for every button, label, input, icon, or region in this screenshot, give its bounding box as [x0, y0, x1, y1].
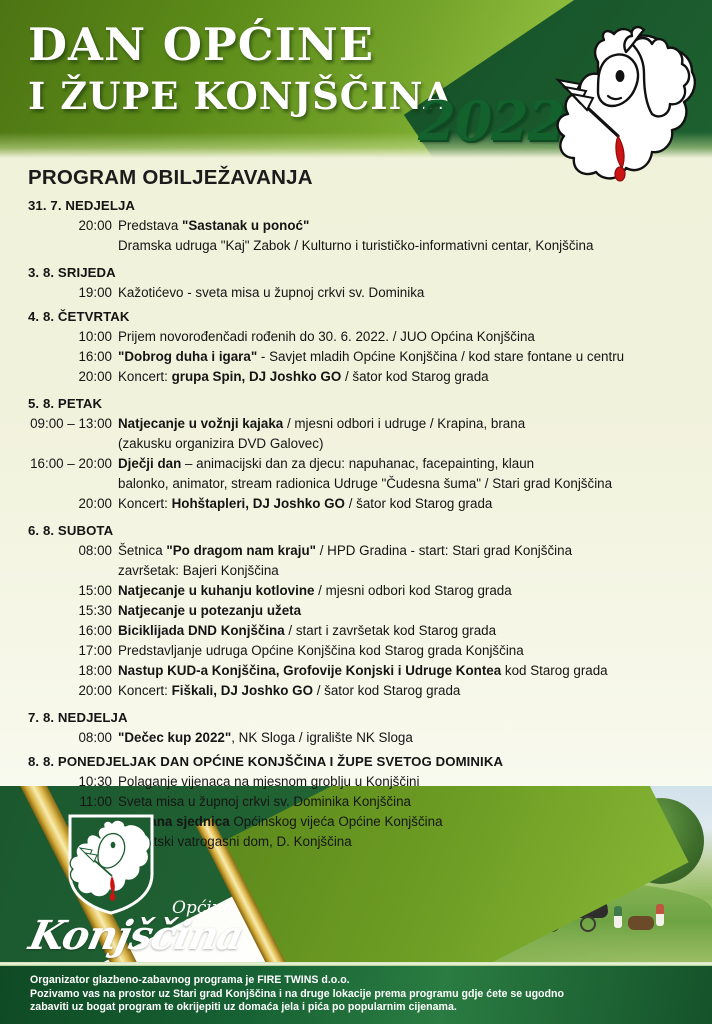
program-day-gap [0, 701, 712, 708]
program-entry-time: 20:00 [0, 681, 118, 701]
program-entry-text: Kažotićevo - sveta misa u župnoj crkvi s… [118, 283, 424, 303]
program-entry-time: 08:00 [0, 728, 118, 748]
footer-line-2: Pozivamo vas na prostor uz Stari grad Ko… [0, 988, 712, 1002]
program-entry: 16:00Biciklijada DND Konjščina / start i… [0, 621, 712, 641]
program-entry-text: Predstavljanje udruga Općine Konjščina k… [118, 641, 524, 661]
program-day-title: 7. 8. NEDJELJA [28, 708, 712, 728]
program-entry-continuation: Dramska udruga "Kaj" Zabok / Kulturno i … [0, 236, 712, 256]
program-entry: 15:00Natjecanje u kuhanju kotlovine / mj… [0, 581, 712, 601]
program-entry-text: Sveta misa u župnoj crkvi sv. Dominika K… [118, 792, 411, 812]
footer-line-3: zabaviti uz bogat program te okrijepiti … [0, 1001, 712, 1015]
program-continuation-text: balonko, animator, stream radionica Udru… [118, 474, 612, 494]
program-entry: 17:00Predstavljanje udruga Općine Konjšč… [0, 641, 712, 661]
program-entry-time: 15:00 [0, 581, 118, 601]
program-entry-time: 20:00 [0, 216, 118, 236]
program-entry-time: 20:00 [0, 494, 118, 514]
program-entry: 19:00Kažotićevo - sveta misa u župnoj cr… [0, 283, 712, 303]
poster: DAN OPĆINE I ŽUPE KONJŠČINA 2022 PROG [0, 0, 712, 1024]
program-day-title: 5. 8. PETAK [28, 394, 712, 414]
program-entry-text: Nastup KUD-a Konjščina, Grofovije Konjsk… [118, 661, 608, 681]
program-entry-continuation: (zakusku organizira DVD Galovec) [0, 434, 712, 454]
program-entry-time: 16:00 [0, 347, 118, 367]
program-entry: 15:30Natjecanje u potezanju užeta [0, 601, 712, 621]
footer-divider [0, 962, 712, 966]
program-entry-time: 16:00 – 20:00 [0, 454, 118, 474]
program-entry-time: 17:00 [0, 641, 118, 661]
program-day-title: 6. 8. SUBOTA [28, 521, 712, 541]
program-entry-text: Koncert: Hohštapleri, DJ Joshko GO / šat… [118, 494, 492, 514]
program-entry-time: 08:00 [0, 541, 118, 561]
program-entry-time: 15:30 [0, 601, 118, 621]
program-day: 5. 8. PETAK09:00 – 13:00Natjecanje u vož… [0, 394, 712, 514]
program-entry-time: 11:00 [0, 792, 118, 812]
program-entry: 20:00Koncert: grupa Spin, DJ Joshko GO /… [0, 367, 712, 387]
poster-title: DAN OPĆINE I ŽUPE KONJŠČINA [28, 22, 453, 115]
program-entry: 18:00Nastup KUD-a Konjščina, Grofovije K… [0, 661, 712, 681]
program-entry-text: Svečana sjednica Općinskog vijeća Općine… [118, 812, 443, 832]
footer-line-1: Organizator glazbeno-zabavnog programa j… [0, 966, 712, 988]
program-entry: 20:00Koncert: Fiškali, DJ Joshko GO / ša… [0, 681, 712, 701]
poster-footer: Organizator glazbeno-zabavnog programa j… [0, 966, 712, 1024]
program-day-title: 8. 8. PONEDJELJAK DAN OPĆINE KONJŠČINA I… [28, 752, 712, 772]
program-entry-text: Prijem novorođenčadi rođenih do 30. 6. 2… [118, 327, 535, 347]
program-day: 3. 8. SRIJEDA19:00Kažotićevo - sveta mis… [0, 263, 712, 303]
program-entry: 10:00Prijem novorođenčadi rođenih do 30.… [0, 327, 712, 347]
program-day-title: 4. 8. ČETVRTAK [28, 307, 712, 327]
program-day-gap [0, 387, 712, 394]
program-continuation-text: završetak: Bajeri Konjščina [118, 561, 279, 581]
program-continuation-text: Dramska udruga "Kaj" Zabok / Kulturno i … [118, 236, 593, 256]
program-entry: 20:00Predstava "Sastanak u ponoć" [0, 216, 712, 236]
program-day-title: 3. 8. SRIJEDA [28, 263, 712, 283]
title-line-2: I ŽUPE KONJŠČINA [28, 78, 453, 115]
program-entry-text: Natjecanje u vožnji kajaka / mjesni odbo… [118, 414, 525, 434]
program-day: 7. 8. NEDJELJA08:00"Dečec kup 2022", NK … [0, 708, 712, 748]
program-entry-text: Predstava "Sastanak u ponoć" [118, 216, 309, 236]
program-entry-text: Šetnica "Po dragom nam kraju" / HPD Grad… [118, 541, 572, 561]
program-entry-time: 09:00 – 13:00 [0, 414, 118, 434]
title-line-1: DAN OPĆINE [28, 22, 453, 67]
white-horse-heraldic-crest-icon [534, 18, 710, 208]
program-entry: 09:00 – 13:00Natjecanje u vožnji kajaka … [0, 414, 712, 434]
program-day-gap [0, 256, 712, 263]
program-entry: 16:00"Dobrog duha i igara" - Savjet mlad… [0, 347, 712, 367]
program-entry-continuation: balonko, animator, stream radionica Udru… [0, 474, 712, 494]
program-entry: 08:00Šetnica "Po dragom nam kraju" / HPD… [0, 541, 712, 561]
program-entry-text: "Dobrog duha i igara" - Savjet mladih Op… [118, 347, 624, 367]
konjscina-wordmark: Općina Konjščina [26, 898, 286, 956]
program-entry-text: Koncert: grupa Spin, DJ Joshko GO / šato… [118, 367, 489, 387]
program-entry-text: Koncert: Fiškali, DJ Joshko GO / šator k… [118, 681, 460, 701]
program-entry-time: 10:00 [0, 327, 118, 347]
program-entry-time: 16:00 [0, 621, 118, 641]
program-entry-time: 10:30 [0, 772, 118, 792]
program-entry: 10:30Polaganje vijenaca na mjesnom grobl… [0, 772, 712, 792]
program-continuation-text: (zakusku organizira DVD Galovec) [118, 434, 323, 454]
program-entry-time: 18:00 [0, 661, 118, 681]
program-entry-text: Polaganje vijenaca na mjesnom groblju u … [118, 772, 419, 792]
program-entry: 20:00Koncert: Hohštapleri, DJ Joshko GO … [0, 494, 712, 514]
wordmark-konjscina: Konjščina [25, 912, 247, 959]
program-entry-continuation: završetak: Bajeri Konjščina [0, 561, 712, 581]
program-entry-text: Biciklijada DND Konjščina / start i zavr… [118, 621, 496, 641]
program-heading: PROGRAM OBILJEŽAVANJA [28, 166, 313, 190]
program-list: 31. 7. NEDJELJA20:00Predstava "Sastanak … [0, 196, 712, 859]
program-entry-text: Natjecanje u kuhanju kotlovine / mjesni … [118, 581, 512, 601]
program-entry-text: Natjecanje u potezanju užeta [118, 601, 301, 621]
program-entry-time: 20:00 [0, 367, 118, 387]
program-day: 4. 8. ČETVRTAK10:00Prijem novorođenčadi … [0, 307, 712, 387]
program-day-gap [0, 514, 712, 521]
program-entry: 16:00 – 20:00Dječji dan – animacijski da… [0, 454, 712, 474]
program-entry-time: 19:00 [0, 283, 118, 303]
program-entry: 08:00"Dečec kup 2022", NK Sloga / igrali… [0, 728, 712, 748]
program-entry-text: "Dečec kup 2022", NK Sloga / igralište N… [118, 728, 413, 748]
program-entry-text: Dječji dan – animacijski dan za djecu: n… [118, 454, 534, 474]
program-day: 6. 8. SUBOTA08:00Šetnica "Po dragom nam … [0, 521, 712, 701]
program-entry: 11:00Sveta misa u župnoj crkvi sv. Domin… [0, 792, 712, 812]
